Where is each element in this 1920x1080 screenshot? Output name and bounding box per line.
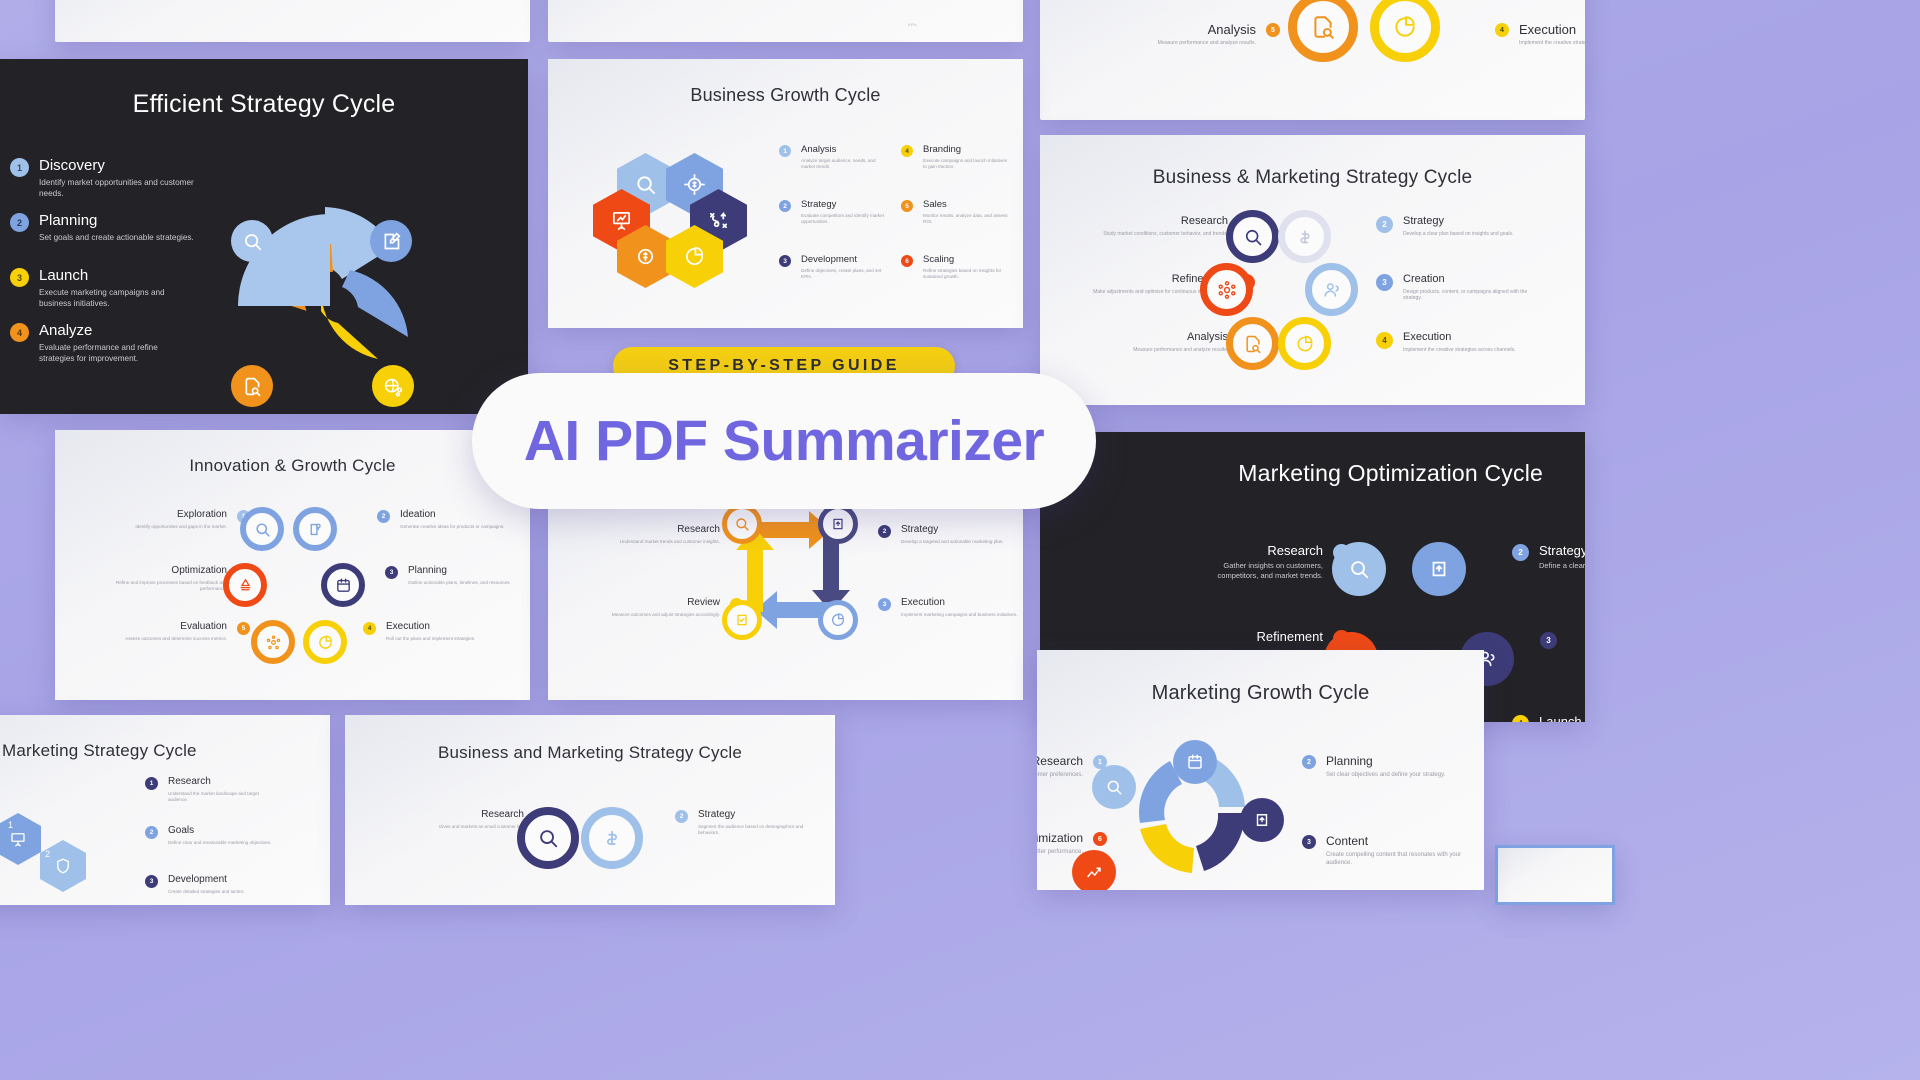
step-title: Creation xyxy=(1403,274,1544,286)
page-title: Marketing Strategy Cycle xyxy=(0,741,330,761)
step-title: Strategy xyxy=(1539,544,1585,558)
calendar-icon xyxy=(1173,740,1217,784)
step-title: Optimization xyxy=(95,566,227,577)
step-analysis: 5 Analysis Measure performance and analy… xyxy=(1100,23,1280,47)
slide-marketing-strategy-cycle: Marketing Strategy Cycle 1 Research Unde… xyxy=(0,715,330,905)
step-badge: 3 xyxy=(878,598,891,611)
step-execution: 4 Execution Roll out the plans and imple… xyxy=(363,622,523,642)
step-desc: Analyze market trends and customer prefe… xyxy=(1037,771,1083,779)
step-desc: Generate creative ideas for products or … xyxy=(400,524,504,530)
upload-document-icon xyxy=(1412,542,1466,596)
step-badge: 3 xyxy=(385,566,398,579)
calendar-icon xyxy=(321,563,365,607)
step-desc: Measure performance and analyze results. xyxy=(1158,40,1256,47)
page-title: Business Growth Cycle xyxy=(548,85,1023,106)
step-desc: Gives and markets an email customer list… xyxy=(439,824,524,830)
step-exploration: 1 Exploration Identify opportunities and… xyxy=(100,510,250,530)
globe-network-icon xyxy=(372,365,414,407)
step-badge: 4 xyxy=(1512,715,1529,722)
search-icon xyxy=(1092,765,1136,809)
slide-business-marketing-strategy-cycle: Business & Marketing Strategy Cycle 1 Re… xyxy=(1040,135,1585,405)
step-badge: 3 xyxy=(145,875,158,888)
step-desc: Evaluate competitors and identify market… xyxy=(801,213,884,225)
step-title: Analyze xyxy=(39,323,189,339)
slide-innovation-growth-cycle: Innovation & Growth Cycle 1 Exploration … xyxy=(55,430,530,700)
slide-business-and-marketing-strategy-cycle: Business and Marketing Strategy Cycle 1 … xyxy=(345,715,835,905)
step-title: Development xyxy=(801,255,884,265)
step-content: 3 Content Create compelling content that… xyxy=(1302,835,1467,867)
step-desc: Segment the audience based on demographi… xyxy=(698,824,825,836)
file-search-icon xyxy=(1226,317,1279,370)
step-development: 3 Development Create detailed strategies… xyxy=(145,875,275,895)
step-planning: 2 Planning Set clear objectives and defi… xyxy=(1302,755,1462,779)
rocket-launch-icon xyxy=(223,563,267,607)
step-title: Launch xyxy=(1539,715,1585,722)
pie-chart-icon xyxy=(303,620,347,664)
upload-document-icon xyxy=(818,504,858,544)
step-desc: Identify market opportunities and custom… xyxy=(39,177,194,199)
step-desc: Create detailed strategies and tactics. xyxy=(168,889,245,895)
page-title: Marketing Optimization Cycle xyxy=(1040,460,1585,487)
page-title: Efficient Strategy Cycle xyxy=(0,90,528,119)
step-desc: Gather insights on customers, competitor… xyxy=(1190,561,1323,581)
step-badge: 2 xyxy=(10,213,29,232)
idea-document-icon xyxy=(293,507,337,551)
step-placeholder: 3 xyxy=(1540,632,1585,649)
step-evaluation: 5 Evaluation Assess outcomes and determi… xyxy=(95,622,250,642)
step-title: Refinement xyxy=(1257,630,1323,644)
checklist-icon xyxy=(722,600,762,640)
step-title: Evaluation xyxy=(125,622,227,633)
step-desc: Execute marketing campaigns and business… xyxy=(39,287,199,309)
step-desc: Refine and improve processes based on fe… xyxy=(95,580,227,592)
step-desc: Implement the creative strategies across… xyxy=(1519,40,1585,47)
slide-top-center-partial: KPIs xyxy=(548,0,1023,42)
step-badge: 6 xyxy=(901,255,913,267)
step-sales: 5 Sales Monitor results, analyze data, a… xyxy=(901,200,1009,225)
step-badge: 3 xyxy=(1376,274,1393,291)
upload-document-icon xyxy=(1240,798,1284,842)
step-title: Research xyxy=(1103,216,1228,228)
step-desc: Define a clear marketing plan. xyxy=(1539,561,1585,571)
step-title: Analysis xyxy=(1133,332,1228,344)
step-title: Planning xyxy=(1326,755,1445,768)
pie-chart-icon xyxy=(1370,0,1440,62)
pie-chart-icon xyxy=(818,600,858,640)
search-icon xyxy=(1226,210,1279,263)
step-title: Exploration xyxy=(135,510,227,521)
step-title: Analysis xyxy=(801,145,884,155)
slide-top-left-partial xyxy=(55,0,530,42)
slide-marketing-growth-cycle: Marketing Growth Cycle 1 Research Analyz… xyxy=(1037,650,1484,890)
step-title: Strategy xyxy=(801,200,884,210)
page-title: Marketing Growth Cycle xyxy=(1037,682,1484,705)
step-badge: 2 xyxy=(1376,216,1393,233)
step-desc: Analyze target audience, needs, and mark… xyxy=(801,158,884,170)
step-badge: 2 xyxy=(1302,755,1316,769)
chart-up-icon xyxy=(1072,850,1116,890)
step-title: Execution xyxy=(901,598,1017,609)
step-badge: 3 xyxy=(1302,835,1316,849)
step-title: Planning xyxy=(39,213,194,229)
hex-number-1: 1 xyxy=(8,820,13,830)
page-title: Innovation & Growth Cycle xyxy=(55,456,530,476)
step-title: Goals xyxy=(168,826,271,837)
dollar-icon xyxy=(1278,210,1331,263)
step-title: Research xyxy=(620,525,720,536)
step-title: Optimization xyxy=(1037,832,1083,845)
step-desc: Understand market trends and customer in… xyxy=(620,539,720,545)
step-badge: 4 xyxy=(10,323,29,342)
step-discovery: 1 Discovery Identify market opportunitie… xyxy=(10,158,210,199)
step-title: Execution xyxy=(1519,23,1585,37)
step-ideation: 2 Ideation Generate creative ideas for p… xyxy=(377,510,527,530)
file-search-icon xyxy=(231,365,273,407)
search-icon xyxy=(722,504,762,544)
step-badge: 2 xyxy=(878,525,891,538)
step-strategy: 2 Strategy Segment the audience based on… xyxy=(675,810,825,836)
step-title: Ideation xyxy=(400,510,504,521)
step-desc: Understand the market landscape and targ… xyxy=(168,791,275,803)
step-title: Development xyxy=(168,875,245,886)
search-icon xyxy=(231,220,273,262)
step-title: Execution xyxy=(386,622,475,633)
step-strategy: 2 Strategy Define a clear marketing plan… xyxy=(1512,544,1585,571)
edit-document-icon xyxy=(370,220,412,262)
step-research: 1 Research Gather insights on customers,… xyxy=(1190,544,1350,581)
step-desc: Execute campaigns and launch initiatives… xyxy=(923,158,1009,170)
step-scaling: 6 Scaling Refine strategies based on ins… xyxy=(901,255,1009,280)
step-launch: 4 Launch Roll out campaigns. xyxy=(1512,715,1585,722)
step-badge: 2 xyxy=(377,510,390,523)
step-title: Research xyxy=(439,810,524,821)
slide-top-partial-analysis: 5 Analysis Measure performance and analy… xyxy=(1040,0,1585,120)
step-creation: 3 Creation Design products, content, or … xyxy=(1376,274,1544,302)
step-desc: Implement marketing campaigns and busine… xyxy=(901,612,1017,618)
step-badge: 4 xyxy=(1376,332,1393,349)
step-execution: 4 Execution Implement the creative strat… xyxy=(1495,23,1585,47)
step-badge: 2 xyxy=(145,826,158,839)
step-badge: 5 xyxy=(237,622,250,635)
product-title-card: AI PDF Summarizer xyxy=(472,373,1096,509)
step-refinement: 6 Refinement xyxy=(1190,630,1350,647)
step-desc: Implement the creative strategies across… xyxy=(1403,347,1516,354)
step-badge: 2 xyxy=(675,810,688,823)
step-analyze: 4 Analyze Evaluate performance and refin… xyxy=(10,323,210,364)
slide-bottom-right-partial xyxy=(1495,845,1615,905)
step-strategy: 2 Strategy Develop a clear plan based on… xyxy=(1376,216,1544,237)
step-title: Sales xyxy=(923,200,1009,210)
step-desc: Monitor results, analyze data, and asses… xyxy=(923,213,1009,225)
step-title: Research xyxy=(1190,544,1323,558)
shield-icon xyxy=(40,840,86,892)
step-desc: Design products, content, or campaigns a… xyxy=(1403,289,1544,303)
step-badge: 2 xyxy=(1512,544,1529,561)
search-icon xyxy=(1332,542,1386,596)
step-research: 1 Research Understand the market landsca… xyxy=(145,777,275,803)
step-title: Launch xyxy=(39,268,199,284)
step-title: Research xyxy=(168,777,275,788)
step-desc: Develop a targeted and actionable market… xyxy=(901,539,1004,545)
step-title: Review xyxy=(612,598,720,609)
step-strategy: 2 Strategy Evaluate competitors and iden… xyxy=(779,200,884,225)
step-badge: 3 xyxy=(1540,632,1557,649)
step-desc: Study market conditions, customer behavi… xyxy=(1103,231,1228,238)
step-desc: Evaluate performance and refine strategi… xyxy=(39,342,189,364)
step-badge: 5 xyxy=(901,200,913,212)
network-star-icon xyxy=(1200,263,1253,316)
dollar-icon xyxy=(581,807,643,869)
step-title: Discovery xyxy=(39,158,194,174)
users-icon xyxy=(1305,263,1358,316)
step-badge: 5 xyxy=(1266,23,1280,37)
step-title: Content xyxy=(1326,835,1467,848)
step-strategy: 2 Strategy Develop a targeted and action… xyxy=(878,525,1018,545)
step-badge: 4 xyxy=(1495,23,1509,37)
step-desc: Measure performance and analyze results. xyxy=(1133,347,1228,354)
collage-background: KPIs 5 Analysis Measure performance and … xyxy=(0,0,1920,1080)
step-launch: 3 Launch Execute marketing campaigns and… xyxy=(10,268,210,309)
step-desc: Define objectives, create plans, and set… xyxy=(801,268,884,280)
step-desc: Set goals and create actionable strategi… xyxy=(39,232,194,243)
step-badge: 1 xyxy=(10,158,29,177)
step-planning: 3 Planning Outline actionable plans, tim… xyxy=(385,566,527,586)
step-badge: 3 xyxy=(10,268,29,287)
step-desc: Refine strategies based on insights for … xyxy=(923,268,1009,280)
step-execution: 3 Execution Implement marketing campaign… xyxy=(878,598,1018,618)
search-icon xyxy=(240,507,284,551)
step-desc: Define clear and measurable marketing ob… xyxy=(168,840,271,846)
step-badge: 1 xyxy=(779,145,791,157)
step-title: Execution xyxy=(1403,332,1516,344)
step-title: Research xyxy=(1037,755,1083,768)
slide-efficient-strategy-cycle: Efficient Strategy Cycle 1 Discovery Ide… xyxy=(0,59,528,414)
step-title: Branding xyxy=(923,145,1009,155)
step-desc: Outline actionable plans, timelines, and… xyxy=(408,580,511,586)
step-desc: Assess outcomes and determine success me… xyxy=(125,636,227,642)
step-badge: 4 xyxy=(901,145,913,157)
step-badge: 4 xyxy=(363,622,376,635)
product-title: AI PDF Summarizer xyxy=(524,408,1044,474)
step-goals: 2 Goals Define clear and measurable mark… xyxy=(145,826,275,846)
step-desc: Measure outcomes and adjust strategies a… xyxy=(612,612,720,618)
presentation-icon xyxy=(0,813,41,865)
step-title: Analysis xyxy=(1158,23,1256,37)
step-title: Scaling xyxy=(923,255,1009,265)
pie-chart-icon xyxy=(1278,317,1331,370)
step-desc: Create compelling content that resonates… xyxy=(1326,851,1467,867)
step-desc: Review results and fine-tune for better … xyxy=(1037,848,1083,856)
page-title: Business and Marketing Strategy Cycle xyxy=(345,743,835,763)
step-execution: 4 Execution Implement the creative strat… xyxy=(1376,332,1544,353)
step-branding: 4 Branding Execute campaigns and launch … xyxy=(901,145,1009,170)
step-desc: Roll out the plans and implement strateg… xyxy=(386,636,475,642)
network-star-icon xyxy=(251,620,295,664)
step-badge: 1 xyxy=(145,777,158,790)
step-desc: Set clear objectives and define your str… xyxy=(1326,771,1445,779)
step-planning: 2 Planning Set goals and create actionab… xyxy=(10,213,210,243)
step-title: Planning xyxy=(408,566,511,577)
step-analysis: 1 Analysis Analyze target audience, need… xyxy=(779,145,884,170)
step-desc: Identify opportunities and gaps in the m… xyxy=(135,524,227,530)
slide-business-growth-cycle: Business Growth Cycle 1 Analysis Analyze… xyxy=(548,59,1023,328)
page-title: Business & Marketing Strategy Cycle xyxy=(1040,167,1585,189)
step-title: Strategy xyxy=(698,810,825,821)
step-badge: 2 xyxy=(779,200,791,212)
file-search-icon xyxy=(1288,0,1358,62)
step-title: Strategy xyxy=(1403,216,1513,228)
step-badge: 3 xyxy=(779,255,791,267)
step-title: Strategy xyxy=(901,525,1004,536)
search-icon xyxy=(517,807,579,869)
step-development: 3 Development Define objectives, create … xyxy=(779,255,884,280)
hex-number-2: 2 xyxy=(45,849,50,859)
step-desc: Develop a clear plan based on insights a… xyxy=(1403,231,1513,238)
